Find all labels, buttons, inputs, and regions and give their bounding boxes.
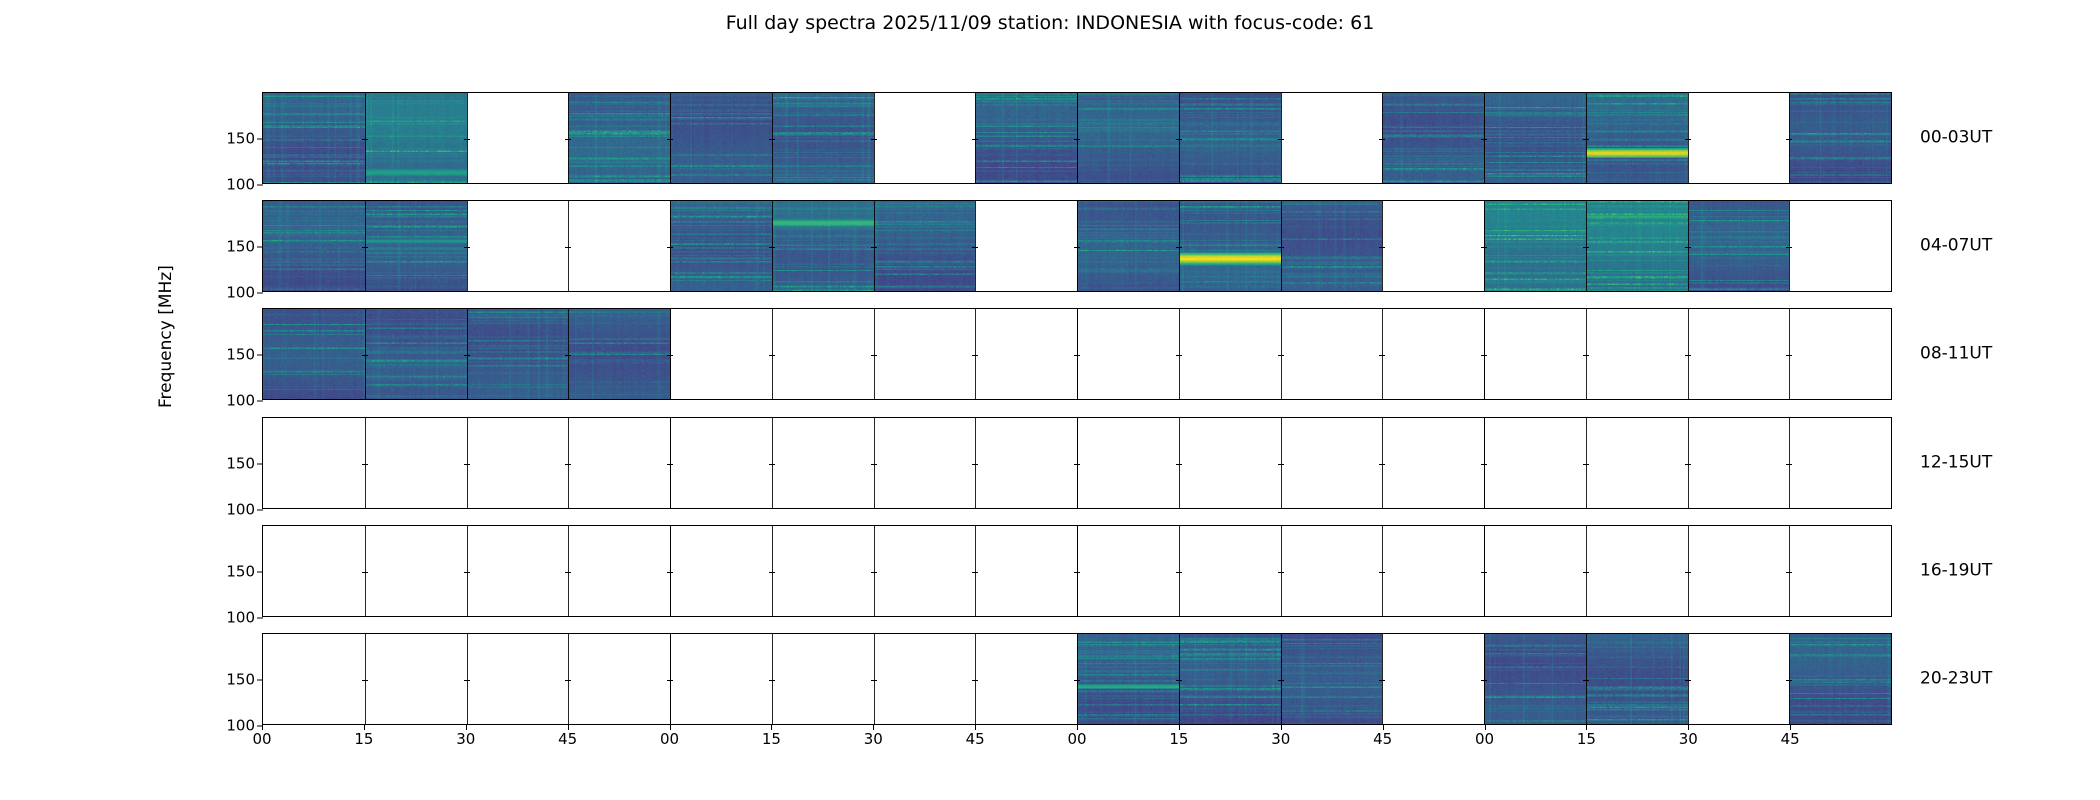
spectrogram-cell[interactable] xyxy=(365,418,467,508)
spectrogram-cell[interactable] xyxy=(975,201,1077,291)
x-tick-label: 30 xyxy=(1679,732,1698,747)
interior-tick-mark xyxy=(972,247,978,248)
spectrogram-tile xyxy=(1179,93,1281,183)
spectrogram-cell[interactable] xyxy=(568,526,670,616)
spectrogram-cell[interactable] xyxy=(1077,634,1179,724)
x-tick-label: 15 xyxy=(1577,732,1596,747)
spectrogram-cell[interactable] xyxy=(568,93,670,183)
interior-tick-mark xyxy=(362,139,368,140)
spectrogram-cell[interactable] xyxy=(1281,634,1383,724)
spectrogram-tile xyxy=(365,309,467,399)
spectrogram-cell[interactable] xyxy=(670,309,772,399)
spectrogram-cell[interactable] xyxy=(1688,634,1790,724)
y-tick-mark xyxy=(257,680,263,681)
spectrogram-tile xyxy=(1077,93,1179,183)
spectrogram-cell[interactable] xyxy=(568,201,670,291)
spectrogram-cell[interactable] xyxy=(1077,418,1179,508)
interior-tick-mark xyxy=(1074,572,1080,573)
spectrogram-cell[interactable] xyxy=(568,418,670,508)
spectrogram-cell[interactable] xyxy=(467,634,569,724)
interior-tick-mark xyxy=(667,572,673,573)
spectrogram-tile xyxy=(1077,634,1179,724)
interior-tick-mark xyxy=(871,247,877,248)
spectrogram-tile xyxy=(1179,201,1281,291)
spectrogram-cell[interactable] xyxy=(975,93,1077,183)
spectrogram-cell[interactable] xyxy=(1789,201,1891,291)
spectrogram-cell[interactable] xyxy=(263,526,365,616)
interior-tick-mark xyxy=(667,464,673,465)
spectrogram-tile xyxy=(365,201,467,291)
spectrogram-tile xyxy=(263,309,365,399)
interior-tick-mark xyxy=(871,680,877,681)
interior-tick-mark xyxy=(565,680,571,681)
interior-tick-mark xyxy=(362,355,368,356)
interior-tick-mark xyxy=(1583,139,1589,140)
interior-tick-mark xyxy=(1379,355,1385,356)
interior-tick-mark xyxy=(1583,464,1589,465)
x-tick-label: 00 xyxy=(660,732,679,747)
interior-tick-mark xyxy=(1685,572,1691,573)
interior-tick-mark xyxy=(1379,680,1385,681)
interior-tick-mark xyxy=(565,139,571,140)
spectrogram-row-16-19ut[interactable]: 150100 xyxy=(262,525,1892,617)
x-tick-mark xyxy=(1077,725,1078,730)
spectrogram-row-cells xyxy=(263,93,1891,183)
spectrogram-cell[interactable] xyxy=(1382,201,1484,291)
interior-tick-mark xyxy=(565,355,571,356)
interior-tick-mark xyxy=(1481,355,1487,356)
spectrogram-tile xyxy=(1789,93,1891,183)
spectrogram-cell[interactable] xyxy=(467,309,569,399)
y-tick-mark xyxy=(257,463,263,464)
page-title: Full day spectra 2025/11/09 station: IND… xyxy=(0,14,2100,33)
spectrogram-cell[interactable] xyxy=(1484,93,1586,183)
interior-tick-mark xyxy=(769,139,775,140)
spectrogram-tile xyxy=(1586,201,1688,291)
spectrogram-cell[interactable] xyxy=(772,93,874,183)
interior-tick-mark xyxy=(1176,572,1182,573)
spectrogram-cell[interactable] xyxy=(1281,201,1383,291)
y-tick-label: 150 xyxy=(226,240,255,255)
interior-tick-mark xyxy=(1786,247,1792,248)
spectrogram-cell[interactable] xyxy=(365,201,467,291)
interior-tick-mark xyxy=(1481,139,1487,140)
spectrogram-cell[interactable] xyxy=(365,93,467,183)
spectrogram-tile xyxy=(1281,634,1383,724)
y-tick-label: 100 xyxy=(226,286,255,301)
x-tick-mark xyxy=(1281,725,1282,730)
spectrogram-cell[interactable] xyxy=(1789,634,1891,724)
spectrogram-row-20-23ut[interactable]: 150100 xyxy=(262,633,1892,725)
row-label-00-03ut: 00-03UT xyxy=(1920,130,1992,147)
interior-tick-mark xyxy=(362,572,368,573)
y-tick-mark xyxy=(257,185,263,186)
spectrogram-cell[interactable] xyxy=(1179,526,1281,616)
spectrogram-cell[interactable] xyxy=(1382,309,1484,399)
spectrogram-cell[interactable] xyxy=(1077,93,1179,183)
spectrogram-row-cells xyxy=(263,418,1891,508)
spectrogram-cell[interactable] xyxy=(670,93,772,183)
x-tick-mark xyxy=(1790,725,1791,730)
x-tick-mark xyxy=(1688,725,1689,730)
spectrogram-tile xyxy=(1586,634,1688,724)
spectrogram-row-cells xyxy=(263,526,1891,616)
spectrogram-cell[interactable] xyxy=(263,418,365,508)
x-tick-label: 45 xyxy=(1373,732,1392,747)
spectrogram-tile xyxy=(1077,201,1179,291)
spectrogram-tile xyxy=(1586,93,1688,183)
interior-tick-mark xyxy=(667,139,673,140)
spectrogram-cell[interactable] xyxy=(365,309,467,399)
interior-tick-mark xyxy=(1583,355,1589,356)
spectrogram-tile xyxy=(263,201,365,291)
interior-tick-mark xyxy=(1278,464,1284,465)
spectrogram-cell[interactable] xyxy=(874,526,976,616)
y-tick-mark xyxy=(257,401,263,402)
y-tick-label: 100 xyxy=(226,178,255,193)
spectrogram-cell[interactable] xyxy=(1077,201,1179,291)
interior-tick-mark xyxy=(565,247,571,248)
spectrogram-row-08-11ut[interactable]: 150100 xyxy=(262,308,1892,400)
spectrogram-cell[interactable] xyxy=(1484,634,1586,724)
spectrogram-cell[interactable] xyxy=(670,526,772,616)
interior-tick-mark xyxy=(667,247,673,248)
x-tick-mark xyxy=(873,725,874,730)
spectrogram-cell[interactable] xyxy=(1281,93,1383,183)
interior-tick-mark xyxy=(1786,680,1792,681)
interior-tick-mark xyxy=(1786,572,1792,573)
y-tick-label: 150 xyxy=(226,673,255,688)
spectrogram-cell[interactable] xyxy=(1789,93,1891,183)
spectrogram-cell[interactable] xyxy=(1688,201,1790,291)
spectrogram-cell[interactable] xyxy=(1179,93,1281,183)
spectrogram-cell[interactable] xyxy=(467,526,569,616)
interior-tick-mark xyxy=(565,464,571,465)
spectrogram-cell[interactable] xyxy=(874,309,976,399)
spectrogram-cell[interactable] xyxy=(1179,201,1281,291)
spectrogram-tile xyxy=(568,93,670,183)
spectrogram-cell[interactable] xyxy=(467,418,569,508)
spectrogram-cell[interactable] xyxy=(874,418,976,508)
spectrogram-cell[interactable] xyxy=(1789,526,1891,616)
spectrogram-tile xyxy=(1281,201,1383,291)
y-tick-label: 100 xyxy=(226,394,255,409)
interior-tick-mark xyxy=(769,355,775,356)
spectrogram-cell[interactable] xyxy=(772,201,874,291)
spectrogram-cell[interactable] xyxy=(1179,634,1281,724)
interior-tick-mark xyxy=(972,572,978,573)
interior-tick-mark xyxy=(1074,464,1080,465)
row-label-20-23ut: 20-23UT xyxy=(1920,671,1992,688)
interior-tick-mark xyxy=(1278,355,1284,356)
spectrogram-cell[interactable] xyxy=(1281,418,1383,508)
spectrogram-cell[interactable] xyxy=(874,634,976,724)
x-tick-label: 15 xyxy=(354,732,373,747)
x-tick-mark xyxy=(1179,725,1180,730)
x-tick-mark xyxy=(1485,725,1486,730)
spectrogram-cell[interactable] xyxy=(467,93,569,183)
spectrogram-cell[interactable] xyxy=(467,201,569,291)
spectrogram-cell[interactable] xyxy=(1179,309,1281,399)
y-tick-mark xyxy=(257,509,263,510)
spectrogram-row-cells xyxy=(263,309,1891,399)
spectrogram-cell[interactable] xyxy=(1382,93,1484,183)
interior-tick-mark xyxy=(565,572,571,573)
interior-tick-mark xyxy=(871,139,877,140)
interior-tick-mark xyxy=(1074,247,1080,248)
spectrogram-cell[interactable] xyxy=(1586,418,1688,508)
interior-tick-mark xyxy=(1685,464,1691,465)
spectrogram-cell[interactable] xyxy=(365,634,467,724)
spectrogram-cell[interactable] xyxy=(975,526,1077,616)
interior-tick-mark xyxy=(1379,572,1385,573)
interior-tick-mark xyxy=(464,355,470,356)
spectrogram-cell[interactable] xyxy=(263,93,365,183)
interior-tick-mark xyxy=(1074,355,1080,356)
spectrogram-cell[interactable] xyxy=(772,418,874,508)
interior-tick-mark xyxy=(1074,680,1080,681)
x-tick-mark xyxy=(568,725,569,730)
interior-tick-mark xyxy=(362,464,368,465)
interior-tick-mark xyxy=(1379,464,1385,465)
spectrogram-row-04-07ut[interactable]: 150100 xyxy=(262,200,1892,292)
interior-tick-mark xyxy=(1379,139,1385,140)
x-tick-label: 30 xyxy=(864,732,883,747)
x-tick-mark xyxy=(771,725,772,730)
interior-tick-mark xyxy=(871,572,877,573)
spectrogram-cell[interactable] xyxy=(1077,309,1179,399)
spectrogram-tile xyxy=(975,93,1077,183)
spectrogram-cell[interactable] xyxy=(1382,634,1484,724)
y-tick-mark xyxy=(257,617,263,618)
spectrogram-tile xyxy=(772,201,874,291)
spectrogram-cell[interactable] xyxy=(1484,309,1586,399)
spectrogram-cell[interactable] xyxy=(1382,526,1484,616)
spectrogram-cell[interactable] xyxy=(365,526,467,616)
spectrogram-cell[interactable] xyxy=(670,634,772,724)
y-tick-label: 100 xyxy=(226,719,255,734)
spectrogram-cell[interactable] xyxy=(670,418,772,508)
spectrogram-cell[interactable] xyxy=(263,634,365,724)
spectrogram-grid: 150100150100150100150100150100150100 xyxy=(262,92,1892,725)
y-axis-label: Frequency [MHz] xyxy=(158,265,175,408)
spectrogram-cell[interactable] xyxy=(1586,201,1688,291)
spectrogram-cell[interactable] xyxy=(772,526,874,616)
spectrogram-tile xyxy=(263,93,365,183)
interior-tick-mark xyxy=(362,247,368,248)
interior-tick-mark xyxy=(1278,680,1284,681)
interior-tick-mark xyxy=(972,139,978,140)
spectrogram-cell[interactable] xyxy=(975,309,1077,399)
y-tick-label: 100 xyxy=(226,502,255,517)
x-tick-label: 15 xyxy=(1169,732,1188,747)
spectrogram-tile xyxy=(1484,201,1586,291)
interior-tick-mark xyxy=(1278,247,1284,248)
interior-tick-mark xyxy=(769,680,775,681)
spectrogram-cell[interactable] xyxy=(1789,309,1891,399)
interior-tick-mark xyxy=(464,680,470,681)
spectrogram-tile xyxy=(1789,634,1891,724)
row-label-08-11ut: 08-11UT xyxy=(1920,346,1992,363)
spectrogram-cell[interactable] xyxy=(1179,418,1281,508)
spectrogram-cell[interactable] xyxy=(263,309,365,399)
spectrogram-cell[interactable] xyxy=(670,201,772,291)
spectrogram-cell[interactable] xyxy=(772,309,874,399)
spectrogram-tile xyxy=(874,201,976,291)
interior-tick-mark xyxy=(464,572,470,573)
y-tick-mark xyxy=(257,571,263,572)
spectrogram-cell[interactable] xyxy=(1688,309,1790,399)
spectrogram-cell[interactable] xyxy=(263,201,365,291)
x-tick-label: 15 xyxy=(762,732,781,747)
spectrogram-tile xyxy=(670,93,772,183)
interior-tick-mark xyxy=(667,355,673,356)
spectrogram-cell[interactable] xyxy=(1484,201,1586,291)
interior-tick-mark xyxy=(1481,464,1487,465)
spectrogram-tile xyxy=(1484,93,1586,183)
spectrogram-cell[interactable] xyxy=(1586,93,1688,183)
spectrogram-cell[interactable] xyxy=(874,201,976,291)
spectrogram-cell[interactable] xyxy=(1586,309,1688,399)
spectrogram-cell[interactable] xyxy=(1382,418,1484,508)
interior-tick-mark xyxy=(1176,464,1182,465)
interior-tick-mark xyxy=(464,247,470,248)
interior-tick-mark xyxy=(1583,572,1589,573)
y-tick-label: 150 xyxy=(226,564,255,579)
spectrogram-tile xyxy=(1382,93,1484,183)
spectrogram-cell[interactable] xyxy=(1077,526,1179,616)
interior-tick-mark xyxy=(464,464,470,465)
interior-tick-mark xyxy=(1074,139,1080,140)
interior-tick-mark xyxy=(1176,355,1182,356)
spectrogram-cell[interactable] xyxy=(1484,418,1586,508)
row-label-04-07ut: 04-07UT xyxy=(1920,238,1992,255)
x-tick-mark xyxy=(975,725,976,730)
spectrogram-cell[interactable] xyxy=(1688,526,1790,616)
y-tick-label: 150 xyxy=(226,132,255,147)
x-tick-mark xyxy=(1586,725,1587,730)
x-tick-mark xyxy=(670,725,671,730)
row-label-12-15ut: 12-15UT xyxy=(1920,454,1992,471)
spectrogram-cell[interactable] xyxy=(1586,634,1688,724)
spectrogram-tile xyxy=(772,93,874,183)
interior-tick-mark xyxy=(667,680,673,681)
spectrogram-cell[interactable] xyxy=(975,634,1077,724)
spectrogram-cell[interactable] xyxy=(772,634,874,724)
interior-tick-mark xyxy=(1786,139,1792,140)
y-tick-label: 150 xyxy=(226,456,255,471)
interior-tick-mark xyxy=(1481,247,1487,248)
interior-tick-mark xyxy=(972,680,978,681)
interior-tick-mark xyxy=(769,247,775,248)
interior-tick-mark xyxy=(1481,572,1487,573)
interior-tick-mark xyxy=(464,139,470,140)
spectrogram-tile xyxy=(467,309,569,399)
interior-tick-mark xyxy=(1176,139,1182,140)
x-tick-label: 00 xyxy=(252,732,271,747)
y-tick-mark xyxy=(257,293,263,294)
interior-tick-mark xyxy=(1583,247,1589,248)
x-tick-mark xyxy=(364,725,365,730)
spectrogram-cell[interactable] xyxy=(1586,526,1688,616)
spectrogram-cell[interactable] xyxy=(874,93,976,183)
interior-tick-mark xyxy=(1685,139,1691,140)
y-tick-mark xyxy=(257,355,263,356)
spectrogram-tile xyxy=(1688,201,1790,291)
interior-tick-mark xyxy=(972,464,978,465)
spectrogram-cell[interactable] xyxy=(1688,93,1790,183)
x-tick-label: 45 xyxy=(1781,732,1800,747)
interior-tick-mark xyxy=(769,464,775,465)
spectrogram-tile xyxy=(1484,634,1586,724)
interior-tick-mark xyxy=(1176,247,1182,248)
y-tick-mark xyxy=(257,247,263,248)
x-tick-label: 45 xyxy=(558,732,577,747)
spectrogram-tile xyxy=(365,93,467,183)
spectrogram-cell[interactable] xyxy=(1688,418,1790,508)
spectrogram-cell[interactable] xyxy=(568,634,670,724)
interior-tick-mark xyxy=(1278,572,1284,573)
x-tick-label: 00 xyxy=(1475,732,1494,747)
interior-tick-mark xyxy=(1278,139,1284,140)
spectrogram-row-12-15ut[interactable]: 150100 xyxy=(262,417,1892,509)
spectrogram-row-cells xyxy=(263,634,1891,724)
spectrogram-cell[interactable] xyxy=(568,309,670,399)
row-label-16-19ut: 16-19UT xyxy=(1920,562,1992,579)
spectrogram-cell[interactable] xyxy=(1281,526,1383,616)
interior-tick-mark xyxy=(1481,680,1487,681)
spectrogram-row-cells xyxy=(263,201,1891,291)
x-tick-label: 45 xyxy=(966,732,985,747)
x-tick-mark xyxy=(1383,725,1384,730)
interior-tick-mark xyxy=(972,355,978,356)
interior-tick-mark xyxy=(871,355,877,356)
interior-tick-mark xyxy=(1583,680,1589,681)
spectrogram-cell[interactable] xyxy=(1281,309,1383,399)
spectrogram-tile xyxy=(1179,634,1281,724)
interior-tick-mark xyxy=(1786,464,1792,465)
x-tick-mark xyxy=(466,725,467,730)
spectrogram-tile xyxy=(670,201,772,291)
x-tick-label: 30 xyxy=(456,732,475,747)
y-tick-label: 150 xyxy=(226,348,255,363)
interior-tick-mark xyxy=(1685,680,1691,681)
x-tick-mark xyxy=(262,725,263,730)
interior-tick-mark xyxy=(769,572,775,573)
spectrogram-cell[interactable] xyxy=(1484,526,1586,616)
spectrogram-tile xyxy=(568,309,670,399)
spectrogram-cell[interactable] xyxy=(975,418,1077,508)
x-axis: 00153045001530450015304500153045 xyxy=(262,725,1892,765)
interior-tick-mark xyxy=(1786,355,1792,356)
interior-tick-mark xyxy=(1379,247,1385,248)
interior-tick-mark xyxy=(871,464,877,465)
interior-tick-mark xyxy=(362,680,368,681)
x-tick-label: 00 xyxy=(1067,732,1086,747)
interior-tick-mark xyxy=(1176,680,1182,681)
x-tick-label: 30 xyxy=(1271,732,1290,747)
spectrogram-cell[interactable] xyxy=(1789,418,1891,508)
interior-tick-mark xyxy=(1685,247,1691,248)
spectrogram-row-00-03ut[interactable]: 150100 xyxy=(262,92,1892,184)
y-tick-mark xyxy=(257,139,263,140)
y-tick-label: 100 xyxy=(226,610,255,625)
interior-tick-mark xyxy=(1685,355,1691,356)
